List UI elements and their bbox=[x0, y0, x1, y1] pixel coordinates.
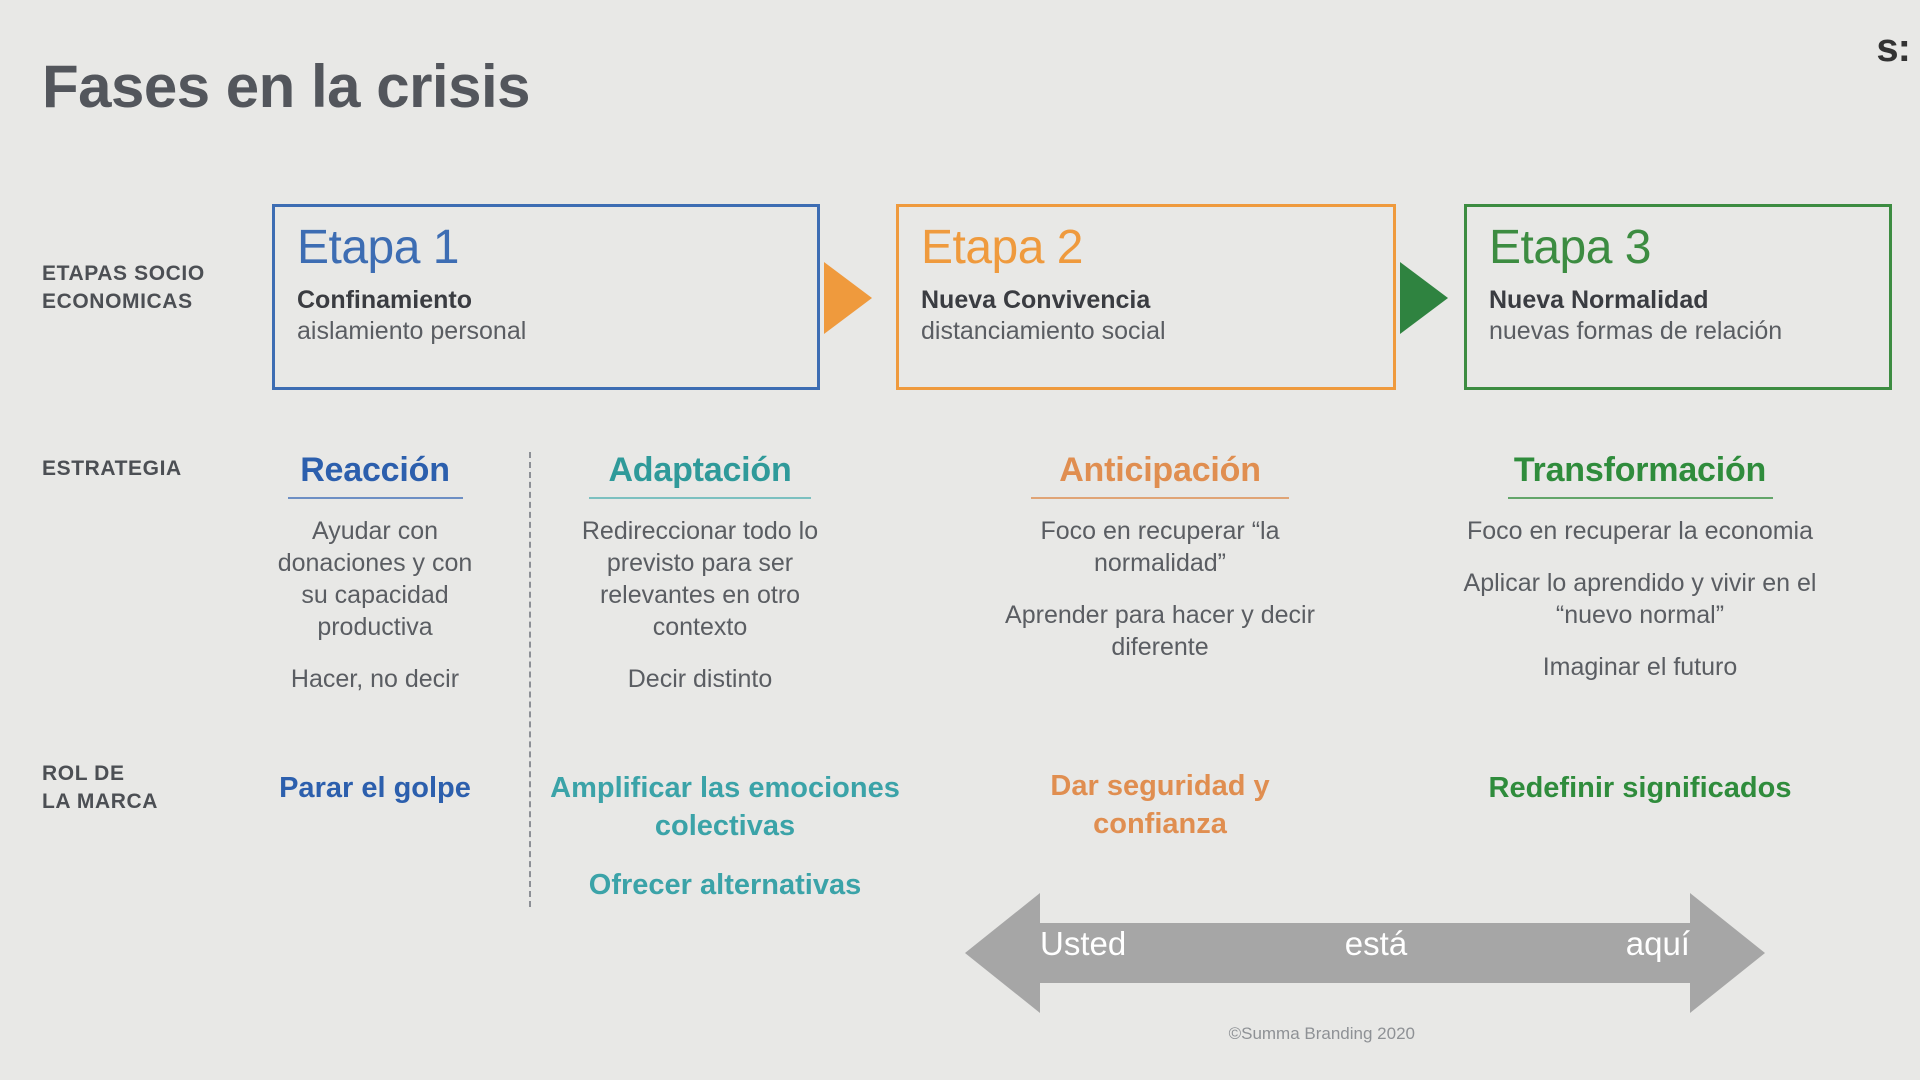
strategy-column-reaccion: Reacción Ayudar con donaciones y con su … bbox=[265, 452, 485, 695]
strategy-heading-anticipacion: Anticipación bbox=[1000, 452, 1320, 497]
stage-3-sub: nuevas formas de relación bbox=[1489, 316, 1889, 347]
brand-role-adaptacion-line2: Ofrecer alternativas bbox=[550, 867, 900, 905]
strategy-para-adaptacion-2: Decir distinto bbox=[560, 663, 840, 695]
row-label-strategy: ESTRATEGIA bbox=[42, 455, 262, 483]
row-label-stages: ETAPAS SOCIO ECONOMICAS bbox=[42, 260, 262, 315]
brand-role-reaccion-line1: Parar el golpe bbox=[265, 770, 485, 808]
dashed-divider bbox=[529, 452, 531, 907]
brand-role-reaccion: Parar el golpe bbox=[265, 770, 485, 808]
strategy-para-anticipacion-1: Foco en recuperar “la normalidad” bbox=[1000, 515, 1320, 579]
strategy-column-anticipacion: Anticipación Foco en recuperar “la norma… bbox=[1000, 452, 1320, 663]
stage-box-1: Etapa 1 Confinamiento aislamiento person… bbox=[272, 204, 820, 390]
brand-role-adaptacion-line1: Amplificar las emociones colectivas bbox=[550, 770, 900, 845]
strategy-heading-transformacion: Transformación bbox=[1440, 452, 1840, 497]
row-label-stages-line1: ETAPAS SOCIO bbox=[42, 260, 262, 288]
here-word-3: aquí bbox=[1626, 925, 1690, 963]
strategy-rule-transformacion bbox=[1508, 497, 1773, 499]
you-are-here-labels: Usted está aquí bbox=[1040, 925, 1690, 963]
strategy-para-transformacion-3: Imaginar el futuro bbox=[1440, 651, 1840, 683]
strategy-rule-adaptacion bbox=[589, 497, 811, 499]
here-word-1: Usted bbox=[1040, 925, 1126, 963]
brand-role-anticipacion-line1: Dar seguridad y confianza bbox=[1000, 768, 1320, 843]
stage-3-main: Nueva Normalidad bbox=[1489, 285, 1889, 316]
arrow-stage2-to-stage3-icon bbox=[1400, 262, 1448, 334]
strategy-heading-adaptacion: Adaptación bbox=[560, 452, 840, 497]
row-label-brand-role-line2: LA MARCA bbox=[42, 788, 262, 816]
stage-3-title: Etapa 3 bbox=[1489, 223, 1889, 273]
row-label-stages-line2: ECONOMICAS bbox=[42, 288, 262, 316]
page-title: Fases en la crisis bbox=[42, 55, 530, 118]
row-label-brand-role-line1: ROL DE bbox=[42, 760, 262, 788]
stage-2-title: Etapa 2 bbox=[921, 223, 1393, 273]
strategy-para-reaccion-2: Hacer, no decir bbox=[265, 663, 485, 695]
summa-logo: s: bbox=[1876, 28, 1910, 68]
here-word-2: está bbox=[1345, 925, 1407, 963]
slide-canvas: s: Fases en la crisis ETAPAS SOCIO ECONO… bbox=[0, 0, 1920, 1080]
brand-role-anticipacion: Dar seguridad y confianza bbox=[1000, 768, 1320, 843]
strategy-heading-reaccion: Reacción bbox=[265, 452, 485, 497]
copyright-notice: ©Summa Branding 2020 bbox=[1229, 1024, 1415, 1044]
strategy-column-transformacion: Transformación Foco en recuperar la econ… bbox=[1440, 452, 1840, 683]
strategy-para-transformacion-2: Aplicar lo aprendido y vivir en el “nuev… bbox=[1440, 567, 1840, 631]
stage-2-main: Nueva Convivencia bbox=[921, 285, 1393, 316]
strategy-para-anticipacion-2: Aprender para hacer y decir diferente bbox=[1000, 599, 1320, 663]
brand-role-transformacion-line1: Redefinir significados bbox=[1440, 770, 1840, 808]
stage-box-3: Etapa 3 Nueva Normalidad nuevas formas d… bbox=[1464, 204, 1892, 390]
stage-1-title: Etapa 1 bbox=[297, 223, 817, 273]
row-label-brand-role: ROL DE LA MARCA bbox=[42, 760, 262, 815]
arrow-stage1-to-stage2-icon bbox=[824, 262, 872, 334]
stage-1-main: Confinamiento bbox=[297, 285, 817, 316]
strategy-column-adaptacion: Adaptación Redireccionar todo lo previst… bbox=[560, 452, 840, 695]
stage-box-2: Etapa 2 Nueva Convivencia distanciamient… bbox=[896, 204, 1396, 390]
strategy-rule-anticipacion bbox=[1031, 497, 1289, 499]
strategy-para-reaccion-1: Ayudar con donaciones y con su capacidad… bbox=[265, 515, 485, 643]
stage-1-sub: aislamiento personal bbox=[297, 316, 817, 347]
brand-role-adaptacion: Amplificar las emociones colectivas Ofre… bbox=[550, 770, 900, 905]
strategy-para-transformacion-1: Foco en recuperar la economia bbox=[1440, 515, 1840, 547]
strategy-para-adaptacion-1: Redireccionar todo lo previsto para ser … bbox=[560, 515, 840, 643]
stage-2-sub: distanciamiento social bbox=[921, 316, 1393, 347]
brand-role-transformacion: Redefinir significados bbox=[1440, 770, 1840, 808]
strategy-rule-reaccion bbox=[288, 497, 463, 499]
